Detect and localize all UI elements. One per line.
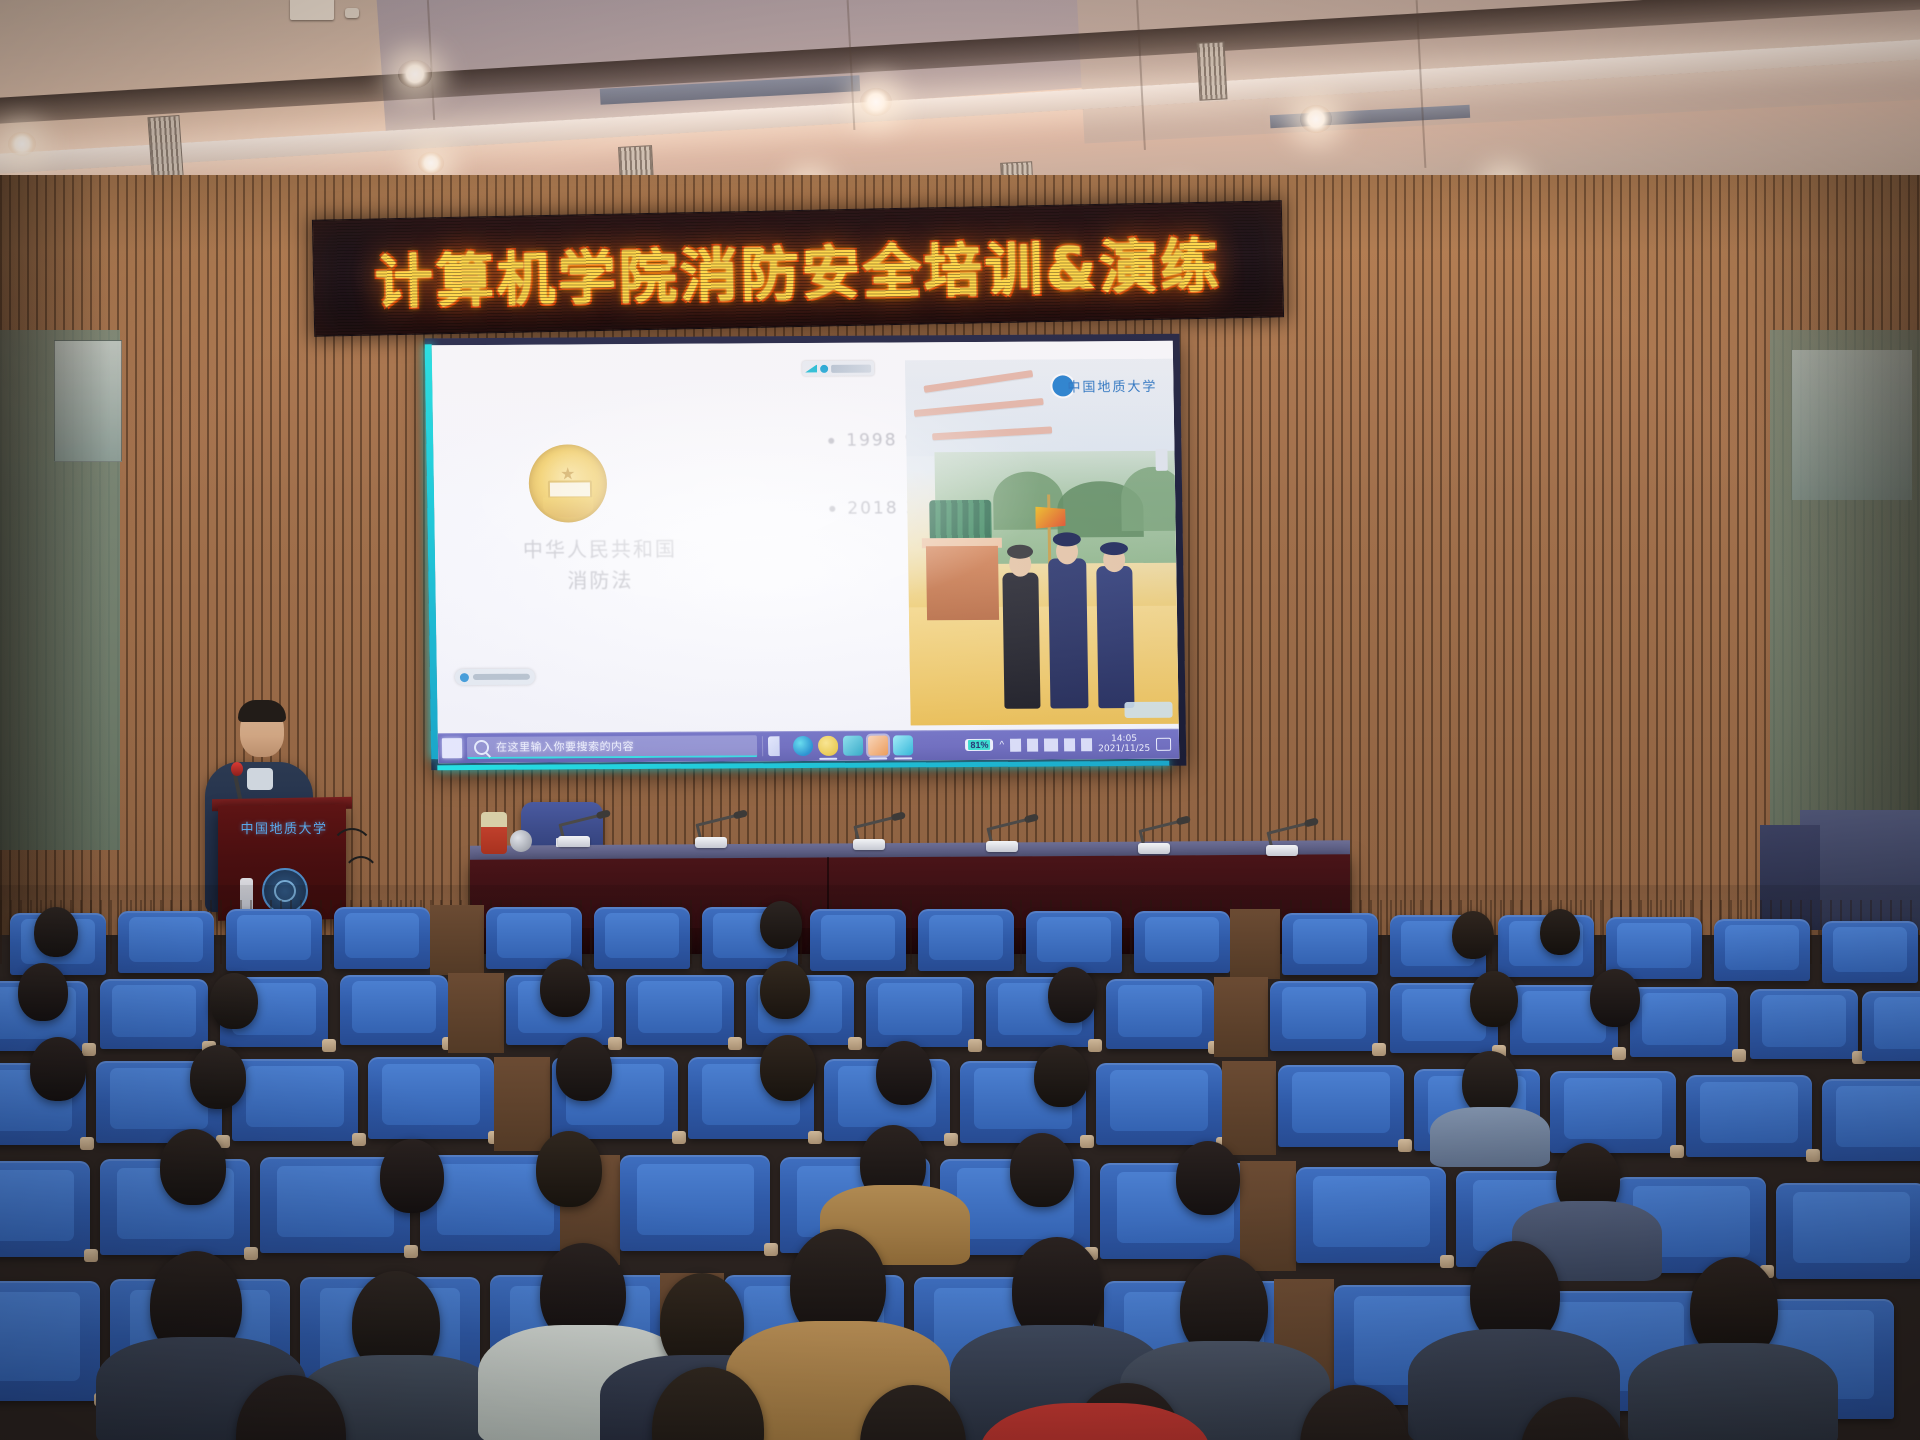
seat[interactable] (1296, 1167, 1446, 1263)
seat-back (1118, 985, 1202, 1037)
audience-head (1462, 1051, 1518, 1115)
seat[interactable] (1686, 1075, 1812, 1157)
taskbar-divider (762, 736, 763, 756)
seat[interactable] (0, 1281, 100, 1401)
seat[interactable] (100, 979, 208, 1049)
seat-armrest (82, 1043, 96, 1056)
ceiling-downlight (418, 152, 444, 174)
ceiling-downlight (860, 88, 892, 116)
seat-back (0, 1292, 80, 1381)
ceiling-downlight (1300, 105, 1332, 133)
seat[interactable] (594, 907, 690, 969)
seat-back (637, 1164, 754, 1235)
seat[interactable] (866, 977, 974, 1047)
audience-head (1048, 967, 1096, 1023)
seat-back (1293, 919, 1368, 965)
seat-back (237, 915, 312, 961)
seat-back (345, 913, 420, 959)
audience-head (1452, 911, 1494, 959)
seat-armrest (352, 1133, 366, 1146)
seat-back (277, 1166, 394, 1237)
windows-start-icon[interactable] (442, 738, 462, 758)
seat-back (1292, 1072, 1390, 1133)
seat[interactable] (1630, 987, 1738, 1057)
audience-head (1034, 1045, 1088, 1107)
search-icon (474, 739, 489, 754)
volume-icon[interactable] (1064, 738, 1075, 751)
status-bar (831, 364, 871, 372)
ceiling-vent (1197, 41, 1228, 100)
seat-back (0, 1170, 74, 1241)
audience-head (34, 907, 78, 957)
slide-notes-chip[interactable] (455, 669, 535, 685)
seat-back (1793, 1192, 1910, 1263)
seat-armrest (672, 1131, 686, 1144)
system-tray: 81% ^ 14:05 2021/11/25 (965, 733, 1175, 755)
seat[interactable] (1106, 979, 1214, 1049)
table-microphone-base (853, 839, 885, 850)
seat[interactable] (1550, 1071, 1676, 1153)
slide-title-line2: 消防法 (495, 565, 705, 597)
windows-taskbar: 在这里输入你要搜索的内容 81% ^ (438, 729, 1179, 764)
seat-back (112, 985, 196, 1037)
audience-head (210, 973, 258, 1029)
audience-head (540, 959, 590, 1017)
table-microphone-base (695, 837, 727, 848)
audience-head (760, 961, 810, 1019)
podium-microphone-head (231, 762, 243, 776)
seat-back (1836, 1086, 1920, 1147)
seat-armrest (1372, 1043, 1386, 1056)
aisle (1222, 1061, 1276, 1155)
seat-back (1037, 917, 1112, 963)
signal-icon (805, 364, 817, 372)
seat[interactable] (226, 909, 322, 971)
audience-head (760, 1035, 816, 1101)
seat-back (246, 1066, 344, 1127)
cug-logo-text: 中国地质大学 (1067, 376, 1157, 396)
seat-armrest (848, 1037, 862, 1050)
flower-vase (481, 812, 507, 854)
seat[interactable] (810, 909, 906, 971)
emblem-gate (548, 480, 593, 498)
seat[interactable] (1750, 989, 1858, 1059)
audience-head (1470, 971, 1518, 1027)
photo-podium (926, 546, 999, 620)
seat[interactable] (232, 1059, 358, 1141)
cloud-app-icon[interactable] (893, 735, 913, 755)
seat-back (1313, 1176, 1430, 1247)
photo-person-cap (1053, 532, 1081, 546)
audience-head (760, 901, 802, 949)
seat-armrest (968, 1039, 982, 1052)
seat-back (1145, 917, 1220, 963)
table-microphone-base (1266, 845, 1298, 856)
seat-back (605, 913, 680, 959)
seat-back (1833, 927, 1908, 973)
bluetooth-icon[interactable] (1010, 738, 1021, 751)
photo-mural-hill (1121, 467, 1179, 531)
table-microphone-base (1138, 843, 1170, 854)
seat-armrest (1440, 1255, 1454, 1268)
slide-title-line1: 中华人民共和国 (495, 534, 705, 566)
seat[interactable] (0, 1161, 90, 1257)
seat-back (1282, 987, 1366, 1039)
notification-icon[interactable] (1156, 737, 1171, 750)
national-emblem-icon: ★ (528, 444, 607, 522)
seat[interactable] (1822, 1079, 1920, 1161)
battery-status[interactable]: 81% (965, 739, 993, 751)
seat-back (638, 981, 722, 1033)
seat[interactable] (1026, 911, 1122, 973)
seat-back (1725, 925, 1800, 971)
seat[interactable] (368, 1057, 494, 1139)
seat-armrest (764, 1243, 778, 1256)
photo-person-presenter (1002, 573, 1040, 709)
photo-person-officer (1096, 566, 1134, 708)
audience-head (1010, 1133, 1074, 1207)
bullet-dot-icon (829, 506, 835, 512)
aisle (448, 973, 504, 1053)
audience-head (1590, 969, 1640, 1027)
audience-head (876, 1041, 932, 1105)
seat-armrest (1670, 1145, 1684, 1158)
seat[interactable] (118, 911, 214, 973)
seat-back (1564, 1078, 1662, 1139)
audience-head (160, 1129, 226, 1205)
seat-back (821, 915, 896, 961)
bullet-dot-icon (828, 438, 834, 444)
aisle (1214, 977, 1268, 1057)
seat[interactable] (1282, 913, 1378, 975)
audience-head (380, 1139, 444, 1213)
wall-shadow-left (0, 175, 110, 935)
photo-person-officer (1048, 558, 1088, 708)
seat[interactable] (1134, 911, 1230, 973)
aisle (494, 1057, 550, 1151)
photo-flag (1035, 506, 1065, 528)
podium-label: 中国地质大学 (232, 818, 336, 837)
seat[interactable] (334, 907, 430, 969)
seat-armrest (244, 1247, 258, 1260)
seat[interactable] (1776, 1183, 1920, 1279)
aisle (1230, 909, 1280, 979)
seat[interactable] (340, 975, 448, 1045)
seat[interactable] (918, 909, 1014, 971)
seat-back (1110, 1070, 1208, 1131)
seat-back (352, 981, 436, 1033)
ime-icon[interactable] (1081, 738, 1092, 751)
taskbar-clock[interactable]: 14:05 2021/11/25 (1098, 734, 1150, 755)
seat-back (382, 1064, 480, 1125)
slide-photo-flag-ceremony: 中国地质大学 (905, 359, 1179, 726)
ceiling-sensor (345, 8, 359, 18)
store-icon[interactable] (843, 736, 863, 756)
search-placeholder: 在这里输入你要搜索的内容 (496, 738, 634, 755)
seat[interactable] (1270, 981, 1378, 1051)
audience-seating (0, 885, 1920, 1440)
audience-head (1176, 1141, 1240, 1215)
seat-back (878, 983, 962, 1035)
edge-icon[interactable] (793, 736, 813, 756)
seat[interactable] (1096, 1063, 1222, 1145)
media-player-icon[interactable] (818, 736, 838, 756)
battery-percent: 81% (968, 740, 990, 750)
aisle (430, 905, 484, 975)
seat-armrest (1732, 1049, 1746, 1062)
seat[interactable] (1862, 991, 1920, 1061)
seat-armrest (808, 1131, 822, 1144)
audience-head (18, 963, 68, 1021)
task-view-icon[interactable] (768, 736, 788, 756)
seat-armrest (322, 1039, 336, 1052)
seat-back (497, 913, 572, 959)
seat[interactable] (1822, 921, 1918, 983)
photo-person-hair (1007, 545, 1033, 559)
audience-shoulders (1430, 1107, 1550, 1167)
table-microphone-base (558, 836, 590, 847)
seat-armrest (1806, 1149, 1820, 1162)
seat-armrest (944, 1133, 958, 1146)
seat-back (1642, 993, 1726, 1045)
projection-screen[interactable]: ★ 中华人民共和国 消防法 1998 9 1 2018 3 (432, 341, 1180, 763)
powerpoint-icon[interactable] (868, 735, 888, 755)
slide-title: 中华人民共和国 消防法 (495, 534, 706, 597)
status-dot-icon (820, 364, 828, 372)
seat[interactable] (1714, 919, 1810, 981)
clock-time: 14:05 (1098, 734, 1150, 745)
speaker-collar (247, 768, 273, 790)
seat-armrest (1398, 1139, 1412, 1152)
audience-head (190, 1045, 246, 1109)
seat-armrest (1612, 1047, 1626, 1060)
slide-status-pill (802, 361, 874, 376)
search-input[interactable]: 在这里输入你要搜索的内容 (467, 735, 757, 759)
projection-screen-frame: ★ 中华人民共和国 消防法 1998 9 1 2018 3 (425, 334, 1187, 771)
seat-armrest (608, 1037, 622, 1050)
audience-shoulders (1628, 1343, 1838, 1440)
seat-back (1617, 923, 1692, 969)
seat-armrest (84, 1249, 98, 1262)
seat[interactable] (626, 975, 734, 1045)
ceiling-downlight (398, 60, 432, 88)
audience-head (1540, 909, 1580, 955)
ceiling-speaker (290, 0, 334, 20)
seat-armrest (80, 1137, 94, 1150)
seat-back (929, 915, 1004, 961)
table-object (510, 830, 532, 852)
audience-head (556, 1037, 612, 1101)
led-banner: 计算机学院消防安全培训&演练 (312, 200, 1284, 336)
seat-back (1762, 995, 1846, 1047)
seat-armrest (1088, 1039, 1102, 1052)
seat-back (1874, 997, 1920, 1049)
clock-date: 2021/11/25 (1098, 744, 1150, 755)
chevron-up-icon[interactable]: ^ (999, 739, 1004, 750)
slide-next-arrow[interactable] (1155, 449, 1167, 471)
speaker-hair (238, 700, 286, 722)
usb-icon[interactable] (1027, 738, 1038, 751)
powerpoint-slide: ★ 中华人民共和国 消防法 1998 9 1 2018 3 (432, 341, 1180, 763)
auditorium-photo: 计算机学院消防安全培训&演练 ★ (0, 0, 1920, 1440)
chip-bar (473, 674, 530, 680)
ceiling-downlight (8, 132, 36, 156)
chip-dot-icon (460, 673, 469, 682)
audience-head (536, 1131, 602, 1207)
audience-head (30, 1037, 86, 1101)
seat-back (129, 917, 204, 963)
photo-person-cap (1100, 542, 1128, 555)
network-icon[interactable] (1044, 738, 1058, 751)
led-banner-text: 计算机学院消防安全培训&演练 (374, 218, 1222, 319)
seat-armrest (728, 1037, 742, 1050)
seat[interactable] (1278, 1065, 1404, 1147)
seat-armrest (1080, 1135, 1094, 1148)
table-microphone-base (986, 841, 1018, 852)
aisle (1240, 1161, 1296, 1271)
seat-armrest (404, 1245, 418, 1258)
seat-back (1700, 1082, 1798, 1143)
photo-corner-badge (1124, 702, 1172, 718)
seat[interactable] (620, 1155, 770, 1251)
